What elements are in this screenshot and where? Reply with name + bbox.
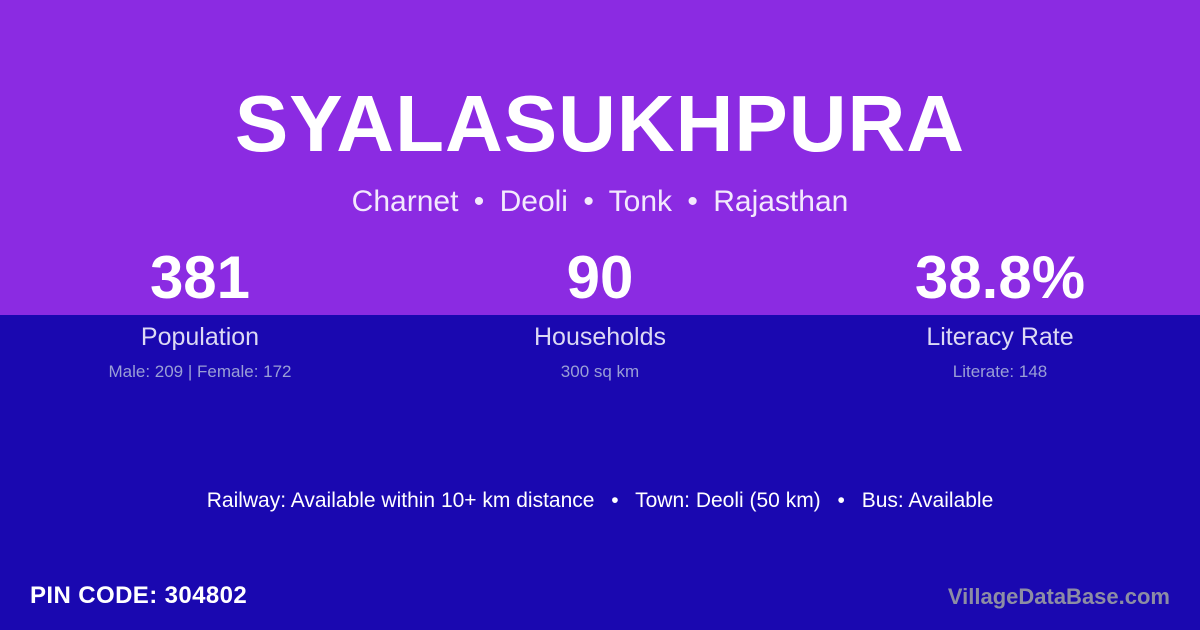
stat-subtext: Literate: 148 [800, 351, 1200, 382]
infrastructure-railway: Railway: Available within 10+ km distanc… [207, 489, 595, 512]
infrastructure-separator: • [827, 488, 856, 514]
infrastructure-separator: • [600, 488, 629, 514]
page-title: SYALASUKHPURA [0, 0, 1200, 164]
village-info-card: SYALASUKHPURA Charnet • Deoli • Tonk • R… [0, 0, 1200, 630]
breadcrumb: Charnet • Deoli • Tonk • Rajasthan [0, 164, 1200, 219]
stat-label: Households [400, 308, 800, 351]
breadcrumb-item-district: Tonk [609, 185, 672, 218]
breadcrumb-item-village: Charnet [352, 185, 459, 218]
stat-literacy-rate: 38.8% Literacy Rate Literate: 148 [800, 248, 1200, 382]
stat-subtext: 300 sq km [400, 351, 800, 382]
stat-value: 38.8% [800, 248, 1200, 308]
footer: PIN CODE: 304802 VillageDataBase.com [0, 576, 1200, 630]
stat-subtext: Male: 209 | Female: 172 [0, 351, 400, 382]
breadcrumb-item-tehsil: Deoli [500, 185, 568, 218]
stat-value: 381 [0, 248, 400, 308]
stat-households: 90 Households 300 sq km [400, 248, 800, 382]
header-section: SYALASUKHPURA Charnet • Deoli • Tonk • R… [0, 0, 1200, 219]
infrastructure-line: Railway: Available within 10+ km distanc… [0, 488, 1200, 514]
breadcrumb-separator: • [576, 185, 601, 219]
pin-code: PIN CODE: 304802 [30, 581, 247, 611]
infrastructure-bus: Bus: Available [862, 489, 994, 512]
stat-value: 90 [400, 248, 800, 308]
breadcrumb-separator: • [467, 185, 492, 219]
stats-row: 381 Population Male: 209 | Female: 172 9… [0, 248, 1200, 382]
stat-label: Literacy Rate [800, 308, 1200, 351]
site-brand: VillageDataBase.com [948, 583, 1170, 611]
stat-population: 381 Population Male: 209 | Female: 172 [0, 248, 400, 382]
breadcrumb-separator: • [680, 185, 705, 219]
stat-label: Population [0, 308, 400, 351]
infrastructure-town: Town: Deoli (50 km) [635, 489, 821, 512]
breadcrumb-item-state: Rajasthan [713, 185, 848, 218]
